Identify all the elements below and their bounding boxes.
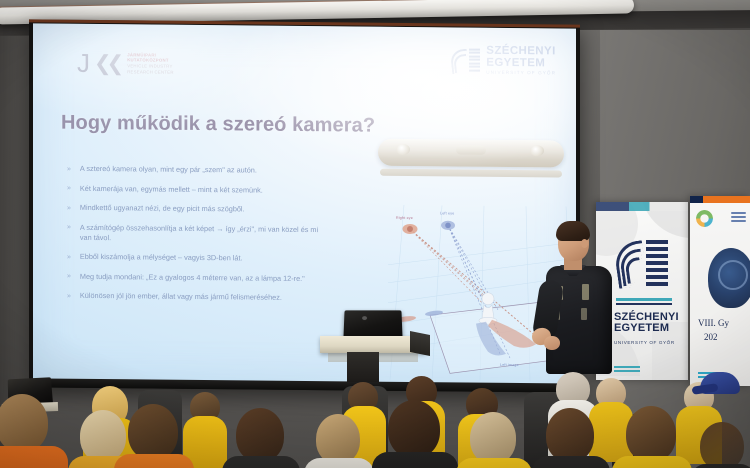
stereo-camera-image — [378, 135, 568, 189]
event-sponsor-logo-icon — [696, 210, 713, 227]
bullet-text: Meg tudja mondani: „Ez a gyalogos 4 méte… — [80, 271, 329, 284]
presenter-hair — [556, 221, 590, 241]
jk-logo-line4: RESEARCH CENTER — [127, 69, 174, 75]
list-item: » Ebből kiszámolja a mélységet – vagyis … — [67, 252, 329, 266]
event-crest-icon — [708, 248, 750, 308]
bullet-text: Mindkettő ugyanazt nézi, de egy picit má… — [80, 203, 329, 216]
bullet-marker-icon: » — [67, 271, 71, 282]
banner-top-stripe — [596, 202, 688, 211]
presentation-photo-scene: J ❮❮ JÁRMŰIPARI KUTATÓKÖZPONT VEHICLE IN… — [0, 0, 750, 468]
slide-title: Hogy működik a szereó kamera? — [61, 112, 375, 138]
event-banner-line1: VIII. Gy — [698, 318, 729, 328]
presentation-slide: J ❮❮ JÁRMŰIPARI KUTATÓKÖZPONT VEHICLE IN… — [33, 23, 576, 386]
list-item: » A számítógép összehasonlítja a két kép… — [67, 222, 329, 246]
list-item: » Két kamerája van, egymás mellett – min… — [67, 183, 329, 197]
list-item: » Mindkettő ugyanazt nézi, de egy picit … — [67, 203, 329, 217]
jk-logo-chevron-icon: ❮❮ — [94, 50, 119, 75]
audience-cap-icon — [700, 372, 740, 394]
stereo-camera-left-lens — [396, 144, 410, 155]
projection-screen: J ❮❮ JÁRMŰIPARI KUTATÓKÖZPONT VEHICLE IN… — [33, 23, 576, 386]
stereo-camera-sensor-slot — [456, 145, 486, 154]
bullet-text: Különösen jól jön ember, állat vagy más … — [80, 291, 329, 304]
jk-logo-letter: J — [77, 50, 90, 76]
bullet-marker-icon: » — [67, 183, 71, 194]
bullet-marker-icon: » — [67, 203, 71, 214]
diagram-label-right-eye: Right eye — [396, 216, 413, 220]
laptop-screen[interactable] — [343, 310, 402, 338]
stereo-camera-shadow — [380, 169, 562, 178]
diagram-label-left-eye: Left eye — [440, 211, 454, 215]
szechenyi-line2: EGYETEM — [486, 57, 556, 69]
event-partner-logo-icon — [731, 212, 746, 226]
presenter-ear — [581, 239, 588, 248]
slide-logo-vehicle-industry-research-center: J ❮❮ JÁRMŰIPARI KUTATÓKÖZPONT VEHICLE IN… — [77, 50, 174, 77]
presenter-shirt-logo — [581, 308, 587, 320]
list-item: » Meg tudja mondani: „Ez a gyalogos 4 mé… — [67, 271, 329, 285]
list-item: » A sztereó kamera olyan, mint egy pár „… — [67, 164, 329, 178]
slide-bullet-list: » A sztereó kamera olyan, mint egy pár „… — [67, 164, 329, 313]
event-banner-top-stripe — [690, 196, 750, 203]
bullet-marker-icon: » — [67, 164, 71, 175]
event-banner-line2: 202 — [704, 332, 718, 342]
bullet-text: A számítógép összehasonlítja a két képet… — [80, 222, 329, 245]
bullet-text: Ebből kiszámolja a mélységet – vagyis 3D… — [80, 252, 329, 265]
bullet-marker-icon: » — [67, 291, 71, 302]
szechenyi-line3: UNIVERSITY OF GYŐR — [486, 71, 556, 76]
audience — [0, 352, 750, 468]
bullet-marker-icon: » — [67, 252, 71, 263]
bullet-marker-icon: » — [67, 222, 71, 243]
jk-logo-text: JÁRMŰIPARI KUTATÓKÖZPONT VEHICLE INDUSTR… — [127, 52, 174, 75]
presenter-shirt-logo — [582, 284, 589, 300]
bullet-text: A sztereó kamera olyan, mint egy pár „sz… — [80, 164, 329, 177]
bullet-text: Két kamerája van, egymás mellett – mint … — [80, 183, 329, 196]
stereo-camera-right-lens — [530, 145, 544, 156]
slide-logo-szechenyi-egyetem: SZÉCHENYI EGYETEM UNIVERSITY OF GYŐR — [451, 45, 556, 76]
presenter-hand — [544, 336, 560, 350]
szechenyi-wordmark: SZÉCHENYI EGYETEM UNIVERSITY OF GYŐR — [486, 46, 556, 76]
list-item: » Különösen jól jön ember, állat vagy má… — [67, 291, 329, 305]
szechenyi-mark-icon — [451, 47, 481, 73]
